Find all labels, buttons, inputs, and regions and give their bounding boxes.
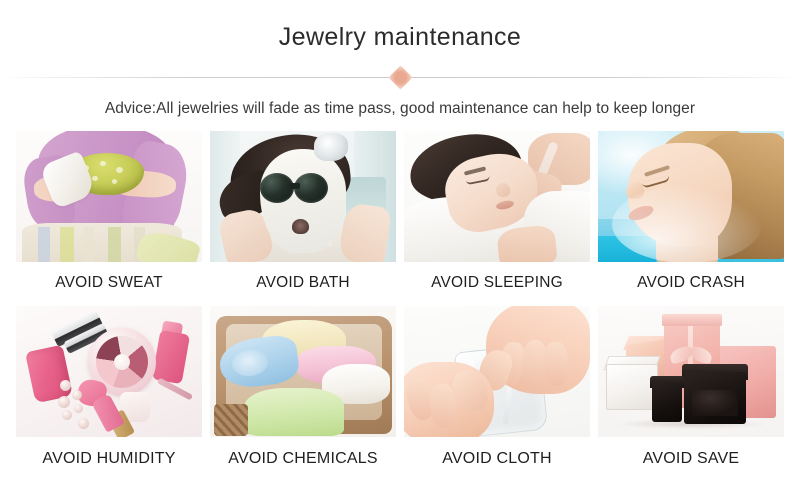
care-tip-card-avoid-bath[interactable]: AVOID BATH	[210, 131, 396, 292]
care-tip-label: AVOID CLOTH	[404, 437, 590, 468]
care-tip-image-avoid-humidity	[16, 306, 202, 437]
care-tip-card-avoid-humidity[interactable]: AVOID HUMIDITY	[16, 306, 202, 468]
care-tip-card-avoid-sleeping[interactable]: AVOID SLEEPING	[404, 131, 590, 292]
care-tip-label: AVOID HUMIDITY	[16, 437, 202, 468]
advice-text: Advice:All jewelries will fade as time p…	[0, 99, 800, 119]
care-tip-image-avoid-sweat	[16, 131, 202, 262]
care-tip-label: AVOID SLEEPING	[404, 262, 590, 292]
care-tip-label: AVOID SWEAT	[16, 262, 202, 292]
care-tip-image-avoid-sleeping	[404, 131, 590, 262]
chemicals-icon	[210, 306, 396, 437]
crash-icon	[598, 131, 784, 262]
care-tip-image-avoid-crash	[598, 131, 784, 262]
care-tip-image-avoid-cloth	[404, 306, 590, 437]
bath-icon	[210, 131, 396, 262]
care-tip-card-avoid-save[interactable]: AVOID SAVE	[598, 306, 784, 468]
sleeping-icon	[404, 131, 590, 262]
care-tip-image-avoid-save	[598, 306, 784, 437]
page-title: Jewelry maintenance	[0, 0, 800, 52]
care-tips-grid: AVOID SWEAT AVOID BATH	[16, 131, 784, 468]
cloth-icon	[404, 306, 590, 437]
care-tip-label: AVOID CHEMICALS	[210, 437, 396, 468]
care-tip-label: AVOID BATH	[210, 262, 396, 292]
jewelry-maintenance-banner: Jewelry maintenance Advice:All jewelries…	[0, 0, 800, 482]
care-tip-label: AVOID CRASH	[598, 262, 784, 292]
title-divider	[0, 65, 800, 91]
care-tip-card-avoid-chemicals[interactable]: AVOID CHEMICALS	[210, 306, 396, 468]
care-tip-card-avoid-sweat[interactable]: AVOID SWEAT	[16, 131, 202, 292]
care-tip-image-avoid-chemicals	[210, 306, 396, 437]
save-icon	[598, 306, 784, 437]
humidity-icon	[16, 306, 202, 437]
care-tip-label: AVOID SAVE	[598, 437, 784, 468]
care-tip-card-avoid-cloth[interactable]: AVOID CLOTH	[404, 306, 590, 468]
care-tip-card-avoid-crash[interactable]: AVOID CRASH	[598, 131, 784, 292]
diamond-accent-icon	[388, 65, 412, 89]
care-tip-image-avoid-bath	[210, 131, 396, 262]
sweat-icon	[16, 131, 202, 262]
